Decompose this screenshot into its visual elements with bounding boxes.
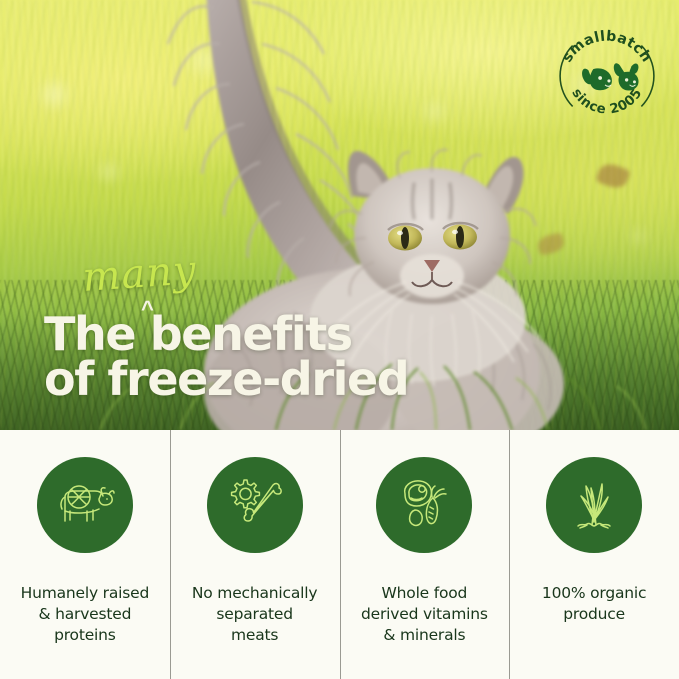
svg-text:smallbatch: smallbatch xyxy=(559,28,654,65)
caret-insertion-mark: ^ xyxy=(141,298,154,320)
benefit-label: Whole food derived vitamins & minerals xyxy=(355,583,494,645)
sprouting-plant-icon xyxy=(565,476,623,534)
smallbatch-logo: smallbatch since 2005 xyxy=(553,22,661,130)
hero-photo: smallbatch since 2005 xyxy=(0,0,679,430)
headline-line-2: of freeze-dried xyxy=(44,357,474,402)
benefit-icon-circle xyxy=(37,457,133,553)
benefit-label: No mechanically separated meats xyxy=(186,583,323,645)
benefit-icon-circle xyxy=(207,457,303,553)
benefits-row: Humanely raised & harvested proteins No … xyxy=(0,430,679,679)
benefit-label: Humanely raised & harvested proteins xyxy=(15,583,155,645)
benefit-icon-circle xyxy=(546,457,642,553)
hero-headline: many ^ The benefits of freeze-dried xyxy=(44,258,474,402)
benefit-item-whole-food-vitamins: Whole food derived vitamins & minerals xyxy=(340,430,510,679)
gear-and-bone-icon xyxy=(226,476,284,534)
benefit-item-organic-produce: 100% organic produce xyxy=(509,430,679,679)
headline-script-word: many xyxy=(81,250,198,298)
benefit-item-humanely-raised: Humanely raised & harvested proteins xyxy=(0,430,170,679)
steak-carrot-egg-icon xyxy=(395,476,453,534)
svg-text:since 2005: since 2005 xyxy=(568,86,645,118)
benefit-label: 100% organic produce xyxy=(536,583,652,625)
benefit-item-no-separated-meats: No mechanically separated meats xyxy=(170,430,340,679)
headline-text: The benefits of freeze-dried xyxy=(44,312,474,402)
headline-line-1: The benefits xyxy=(44,312,474,357)
cow-no-hormones-icon xyxy=(55,477,115,533)
benefit-icon-circle xyxy=(376,457,472,553)
freeze-dried-benefits-infographic: smallbatch since 2005 xyxy=(0,0,679,679)
